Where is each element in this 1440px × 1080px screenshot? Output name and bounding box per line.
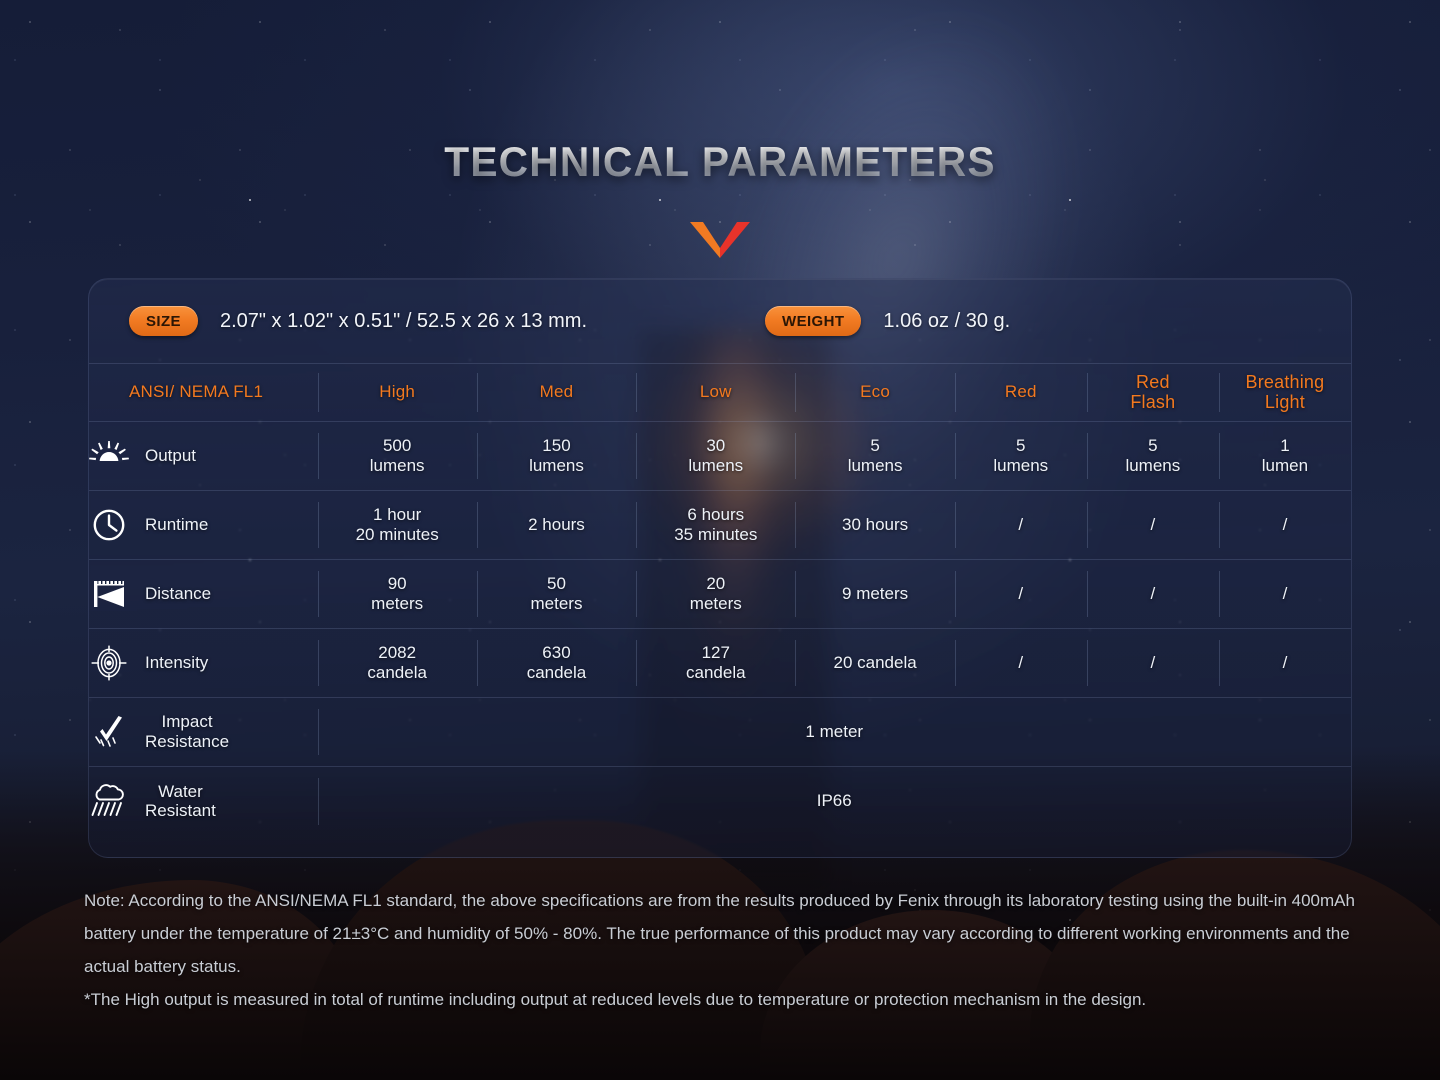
- cell-line1: 127: [636, 643, 795, 663]
- cell-line2: candela: [318, 663, 477, 683]
- cell-line1: 2082: [318, 643, 477, 663]
- table-body: Output 500 lumens 150 lumens 30 lumens: [89, 422, 1351, 836]
- cell-distance-low: 20 meters: [636, 560, 795, 629]
- cell-water-resistant-value: IP66: [318, 767, 1352, 836]
- header-ansi-fl1: ANSI/ NEMA FL1: [89, 364, 318, 422]
- cell-output-red-flash: 5 lumens: [1087, 422, 1219, 491]
- footnote-paragraph-2: *The High output is measured in total of…: [84, 983, 1362, 1016]
- cell-distance-breathing: /: [1219, 560, 1351, 629]
- cell-line2: 35 minutes: [636, 525, 795, 545]
- cell-line1: 20: [636, 574, 795, 594]
- header-row: ANSI/ NEMA FL1 High Med Low Eco Red Red …: [89, 364, 1351, 422]
- cell-line2: 20 minutes: [318, 525, 477, 545]
- cell-runtime-red-flash: /: [1087, 491, 1219, 560]
- clock-icon: [89, 508, 129, 542]
- cell-line1: 6 hours: [636, 505, 795, 525]
- cell-line2: lumens: [318, 456, 477, 476]
- cell-line2: lumens: [955, 456, 1087, 476]
- row-label-distance: Distance: [89, 560, 318, 629]
- cell-runtime-high: 1 hour 20 minutes: [318, 491, 477, 560]
- table-row-intensity: Intensity 2082 candela 630 candela 127 c…: [89, 629, 1351, 698]
- cell-line1: 2 hours: [477, 515, 636, 535]
- cell-output-breathing: 1 lumen: [1219, 422, 1351, 491]
- header-red-flash-line2: Flash: [1087, 393, 1219, 413]
- cell-line1: 30: [636, 436, 795, 456]
- row-label-text-impact: Impact Resistance: [145, 712, 229, 751]
- cell-line1: 150: [477, 436, 636, 456]
- table-row-runtime: Runtime 1 hour 20 minutes 2 hours 6 hour…: [89, 491, 1351, 560]
- cell-intensity-high: 2082 candela: [318, 629, 477, 698]
- cell-line1: 1 hour: [318, 505, 477, 525]
- water-label-line1: Water: [145, 782, 216, 802]
- cell-line1: 9 meters: [795, 584, 954, 604]
- size-badge: SIZE: [129, 306, 198, 336]
- size-value: 2.07" x 1.02" x 0.51" / 52.5 x 26 x 13 m…: [220, 310, 587, 333]
- footnote: Note: According to the ANSI/NEMA FL1 sta…: [84, 884, 1362, 1016]
- cell-output-med: 150 lumens: [477, 422, 636, 491]
- cell-line1: 500: [318, 436, 477, 456]
- target-intensity-icon: [89, 646, 129, 680]
- cell-line2: candela: [636, 663, 795, 683]
- parameters-table: ANSI/ NEMA FL1 High Med Low Eco Red Red …: [89, 363, 1351, 836]
- table-row-output: Output 500 lumens 150 lumens 30 lumens: [89, 422, 1351, 491]
- row-label-text-runtime: Runtime: [145, 515, 208, 535]
- cell-line2: lumens: [477, 456, 636, 476]
- cell-line2: lumen: [1219, 456, 1351, 476]
- table-row-impact-resistance: Impact Resistance 1 meter: [89, 698, 1351, 767]
- header-red: Red: [955, 364, 1087, 422]
- cell-distance-high: 90 meters: [318, 560, 477, 629]
- cell-line1: 50: [477, 574, 636, 594]
- water-label-line2: Resistant: [145, 801, 216, 821]
- cell-distance-med: 50 meters: [477, 560, 636, 629]
- cell-line2: meters: [636, 594, 795, 614]
- cell-output-red: 5 lumens: [955, 422, 1087, 491]
- footnote-paragraph-1: Note: According to the ANSI/NEMA FL1 sta…: [84, 884, 1362, 983]
- cell-line1: 90: [318, 574, 477, 594]
- cell-runtime-breathing: /: [1219, 491, 1351, 560]
- cell-line1: 5: [795, 436, 954, 456]
- cell-line1: 630: [477, 643, 636, 663]
- impact-label-line1: Impact: [145, 712, 229, 732]
- rain-cloud-icon: [89, 784, 129, 818]
- cell-intensity-eco: 20 candela: [795, 629, 954, 698]
- weight-badge: WEIGHT: [765, 306, 861, 336]
- infographic-stage: TECHNICAL PARAMETERS SIZE 2.07" x 1.02" …: [0, 0, 1440, 1080]
- cell-intensity-red-flash: /: [1087, 629, 1219, 698]
- cell-intensity-breathing: /: [1219, 629, 1351, 698]
- chevron-down-icon: [690, 218, 750, 258]
- header-red-flash-line1: Red: [1087, 373, 1219, 393]
- cell-intensity-med: 630 candela: [477, 629, 636, 698]
- cell-line1: 1: [1219, 436, 1351, 456]
- cell-line2: meters: [477, 594, 636, 614]
- cell-runtime-red: /: [955, 491, 1087, 560]
- cell-line2: meters: [318, 594, 477, 614]
- header-eco: Eco: [795, 364, 954, 422]
- cell-runtime-med: 2 hours: [477, 491, 636, 560]
- table-row-distance: Distance 90 meters 50 meters 20 meters: [89, 560, 1351, 629]
- cell-line2: lumens: [795, 456, 954, 476]
- impact-label-line2: Resistance: [145, 732, 229, 752]
- cell-output-high: 500 lumens: [318, 422, 477, 491]
- weight-group: WEIGHT 1.06 oz / 30 g.: [765, 306, 1010, 336]
- header-breathing-line1: Breathing: [1219, 373, 1351, 393]
- row-label-text-output: Output: [145, 446, 196, 466]
- header-high: High: [318, 364, 477, 422]
- impact-check-icon: [89, 715, 129, 749]
- row-label-text-distance: Distance: [145, 584, 211, 604]
- sun-rays-icon: [89, 439, 129, 473]
- cell-distance-red-flash: /: [1087, 560, 1219, 629]
- row-label-text-intensity: Intensity: [145, 653, 208, 673]
- row-label-runtime: Runtime: [89, 491, 318, 560]
- cell-line2: lumens: [1087, 456, 1219, 476]
- table-header: ANSI/ NEMA FL1 High Med Low Eco Red Red …: [89, 364, 1351, 422]
- cell-line2: candela: [477, 663, 636, 683]
- header-breathing-line2: Light: [1219, 393, 1351, 413]
- beam-distance-icon: [89, 577, 129, 611]
- row-label-text-water: Water Resistant: [145, 782, 216, 821]
- row-label-impact-resistance: Impact Resistance: [89, 698, 318, 767]
- size-group: SIZE 2.07" x 1.02" x 0.51" / 52.5 x 26 x…: [129, 306, 587, 336]
- cell-output-low: 30 lumens: [636, 422, 795, 491]
- cell-output-eco: 5 lumens: [795, 422, 954, 491]
- cell-impact-resistance-value: 1 meter: [318, 698, 1352, 767]
- cell-intensity-low: 127 candela: [636, 629, 795, 698]
- row-label-output: Output: [89, 422, 318, 491]
- header-breathing-light: Breathing Light: [1219, 364, 1351, 422]
- header-med: Med: [477, 364, 636, 422]
- spec-panel: SIZE 2.07" x 1.02" x 0.51" / 52.5 x 26 x…: [88, 278, 1352, 858]
- cell-line1: 5: [955, 436, 1087, 456]
- weight-value: 1.06 oz / 30 g.: [883, 310, 1010, 333]
- cell-line1: 5: [1087, 436, 1219, 456]
- cell-intensity-red: /: [955, 629, 1087, 698]
- row-label-water-resistant: Water Resistant: [89, 767, 318, 836]
- cell-line2: lumens: [636, 456, 795, 476]
- header-red-flash: Red Flash: [1087, 364, 1219, 422]
- page-title: TECHNICAL PARAMETERS: [22, 138, 1419, 186]
- cell-distance-eco: 9 meters: [795, 560, 954, 629]
- row-label-intensity: Intensity: [89, 629, 318, 698]
- brand-chevron: [0, 218, 1440, 258]
- header-low: Low: [636, 364, 795, 422]
- size-weight-strip: SIZE 2.07" x 1.02" x 0.51" / 52.5 x 26 x…: [89, 279, 1351, 363]
- cell-distance-red: /: [955, 560, 1087, 629]
- cell-runtime-low: 6 hours 35 minutes: [636, 491, 795, 560]
- cell-runtime-eco: 30 hours: [795, 491, 954, 560]
- table-row-water-resistant: Water Resistant IP66: [89, 767, 1351, 836]
- cell-line1: 20 candela: [795, 653, 954, 673]
- cell-line1: 30 hours: [795, 515, 954, 535]
